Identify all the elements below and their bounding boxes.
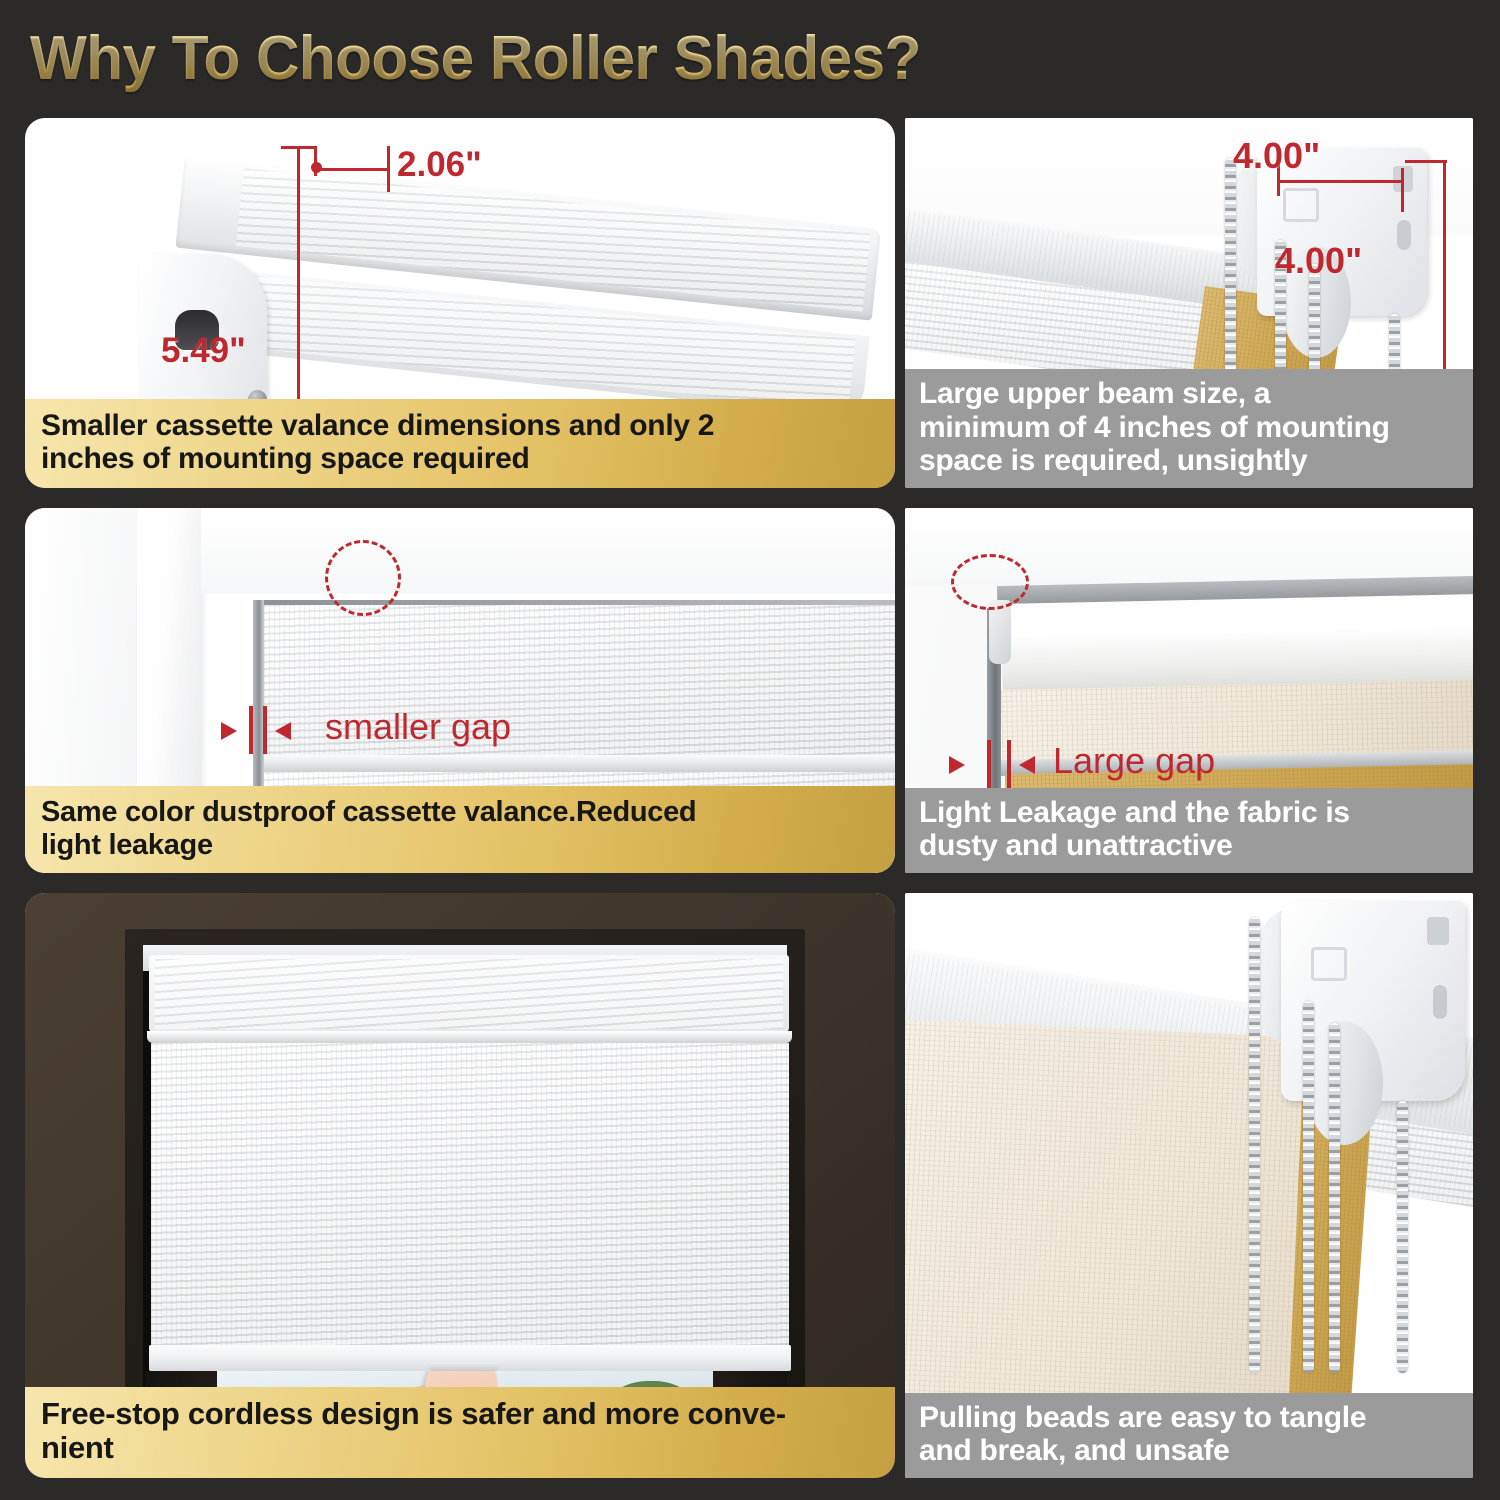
gap-arrow-right-icon (275, 722, 291, 740)
dimension-label-beam-depth: 4.00" (1275, 240, 1362, 282)
panel-large-gap: Large gap Light Leakage and the fabric i… (905, 508, 1473, 873)
panel-6-caption: Pulling beads are easy to tangle and bre… (905, 1393, 1473, 1478)
gap-arrow-right-icon (1019, 756, 1035, 774)
panel-4-caption-line-2: dusty and unattractive (919, 829, 1461, 863)
panel-1-caption-line-1: Smaller cassette valance dimensions and … (41, 409, 879, 443)
gap-tick-left (249, 706, 253, 754)
panel-large-upper-beam: 4.00" 4.00" Large upper beam size, a min… (905, 118, 1473, 488)
dim-tick-top-right (1401, 168, 1404, 212)
dim-line-top (1277, 180, 1404, 183)
dimension-label-width: 2.06" (397, 145, 482, 185)
panel-1-caption-line-2: inches of mounting space required (41, 442, 879, 476)
highlight-circle-icon (325, 540, 401, 616)
dim-dot-width (311, 162, 322, 173)
dim-tick-height-top (281, 146, 317, 149)
gap-tick-right (1007, 740, 1011, 788)
window-head-jamb (201, 508, 895, 594)
dimension-label-height: 5.49" (161, 331, 246, 371)
gap-arrow-left-icon (949, 756, 965, 774)
panel-5-caption-line-2: nient (41, 1431, 879, 1466)
bead-chain-3 (1329, 1023, 1340, 1373)
gap-label-smaller: smaller gap (325, 706, 511, 748)
panel-2-caption: Large upper beam size, a minimum of 4 in… (905, 369, 1473, 488)
panel-pulling-beads: Pulling beads are easy to tangle and bre… (905, 893, 1473, 1478)
bracket-emboss-1 (1311, 947, 1347, 981)
panel-6-caption-line-1: Pulling beads are easy to tangle (919, 1401, 1461, 1435)
panel-6-caption-line-2: and break, and unsafe (919, 1434, 1461, 1468)
page-title: Why To Choose Roller Shades? (30, 18, 1097, 100)
dim-line-width (314, 168, 390, 171)
cassette-valance (149, 955, 789, 1033)
dimension-label-beam-width: 4.00" (1233, 135, 1320, 177)
panel-3-caption: Same color dustproof cassette valance.Re… (25, 786, 895, 873)
shade-pull-tab (429, 1363, 499, 1371)
roller-wheel-back (1305, 1021, 1383, 1145)
shade-fabric (151, 1043, 789, 1353)
panel-cassette-dimensions: 2.06" 5.49" Smaller cassette valance dim… (25, 118, 895, 488)
dim-line-right (1443, 160, 1446, 392)
panel-2-caption-line-2: minimum of 4 inches of mounting (919, 411, 1461, 445)
shade-mid-rail (261, 755, 895, 772)
panel-3-caption-line-2: light leakage (41, 829, 879, 861)
panel-2-caption-line-1: Large upper beam size, a (919, 377, 1461, 411)
gap-tick-right (263, 706, 267, 754)
panel-2-caption-line-3: space is required, unsightly (919, 444, 1461, 478)
panel-5-caption-line-1: Free-stop cordless design is safer and m… (41, 1397, 879, 1432)
gap-arrow-left-icon (221, 722, 237, 740)
panel-4-caption: Light Leakage and the fabric is dusty an… (905, 788, 1473, 873)
panel-4-caption-line-1: Light Leakage and the fabric is (919, 796, 1461, 830)
highlight-circle-icon (951, 554, 1029, 610)
panel-3-caption-line-1: Same color dustproof cassette valance.Re… (41, 796, 879, 828)
roller-tube-right (1001, 594, 1473, 694)
bracket-emboss-1 (1283, 188, 1319, 222)
photo-bead-chain-shade (905, 893, 1473, 1478)
bead-chain-2 (1303, 1001, 1314, 1373)
gap-tick-left (987, 740, 991, 788)
gap-label-large: Large gap (1053, 740, 1215, 782)
bead-chain-1 (1249, 917, 1260, 1373)
panel-smaller-gap: smaller gap Same color dustproof cassett… (25, 508, 895, 873)
dim-tick-right-top (1405, 160, 1447, 163)
cassette-lip (147, 1031, 792, 1043)
panel-5-caption: Free-stop cordless design is safer and m… (25, 1387, 895, 1478)
bead-chain-4 (1397, 1101, 1408, 1373)
panel-1-caption: Smaller cassette valance dimensions and … (25, 399, 895, 488)
panel-cordless-design: Free-stop cordless design is safer and m… (25, 893, 895, 1478)
